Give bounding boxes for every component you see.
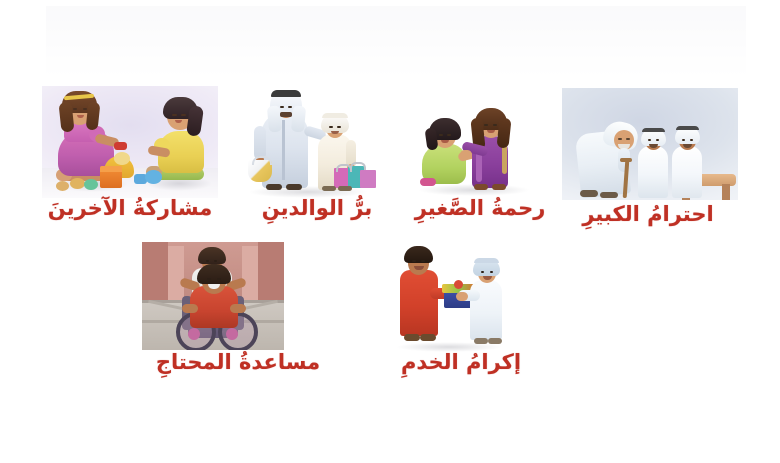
item-card-parents	[232, 86, 404, 198]
caption-respect-elder: احترامُ الكبيرِ	[558, 204, 738, 225]
scene-father-and-son-carrying-bags	[232, 86, 404, 198]
caption-help-needy: مساعدةُ المحتاجِ	[128, 352, 348, 373]
scene-older-girl-helping-younger-girl	[410, 92, 542, 200]
item-card-respect-elder	[562, 88, 738, 200]
item-card-help-needy	[142, 242, 284, 350]
caption-sharing: مشاركةُ الآخرينَ	[30, 198, 230, 219]
poster-canvas: مشاركةُ الآخرينَ	[0, 0, 780, 463]
scene-boys-standing-for-elderly-man	[562, 88, 738, 200]
scene-two-girls-sharing-toys	[42, 86, 218, 198]
caption-parents: برُّ الوالدينِ	[222, 198, 412, 219]
caption-honor-servants: إكرامُ الخدمِ	[376, 352, 546, 373]
caption-mercy-young: رحمةُ الصَّغيرِ	[400, 198, 560, 219]
scene-boy-pushing-wheelchair	[142, 242, 284, 350]
item-card-mercy-young	[410, 92, 542, 200]
item-card-sharing	[42, 86, 218, 198]
item-card-honor-servants	[386, 240, 512, 352]
scene-boy-giving-gift-to-worker	[386, 240, 512, 352]
